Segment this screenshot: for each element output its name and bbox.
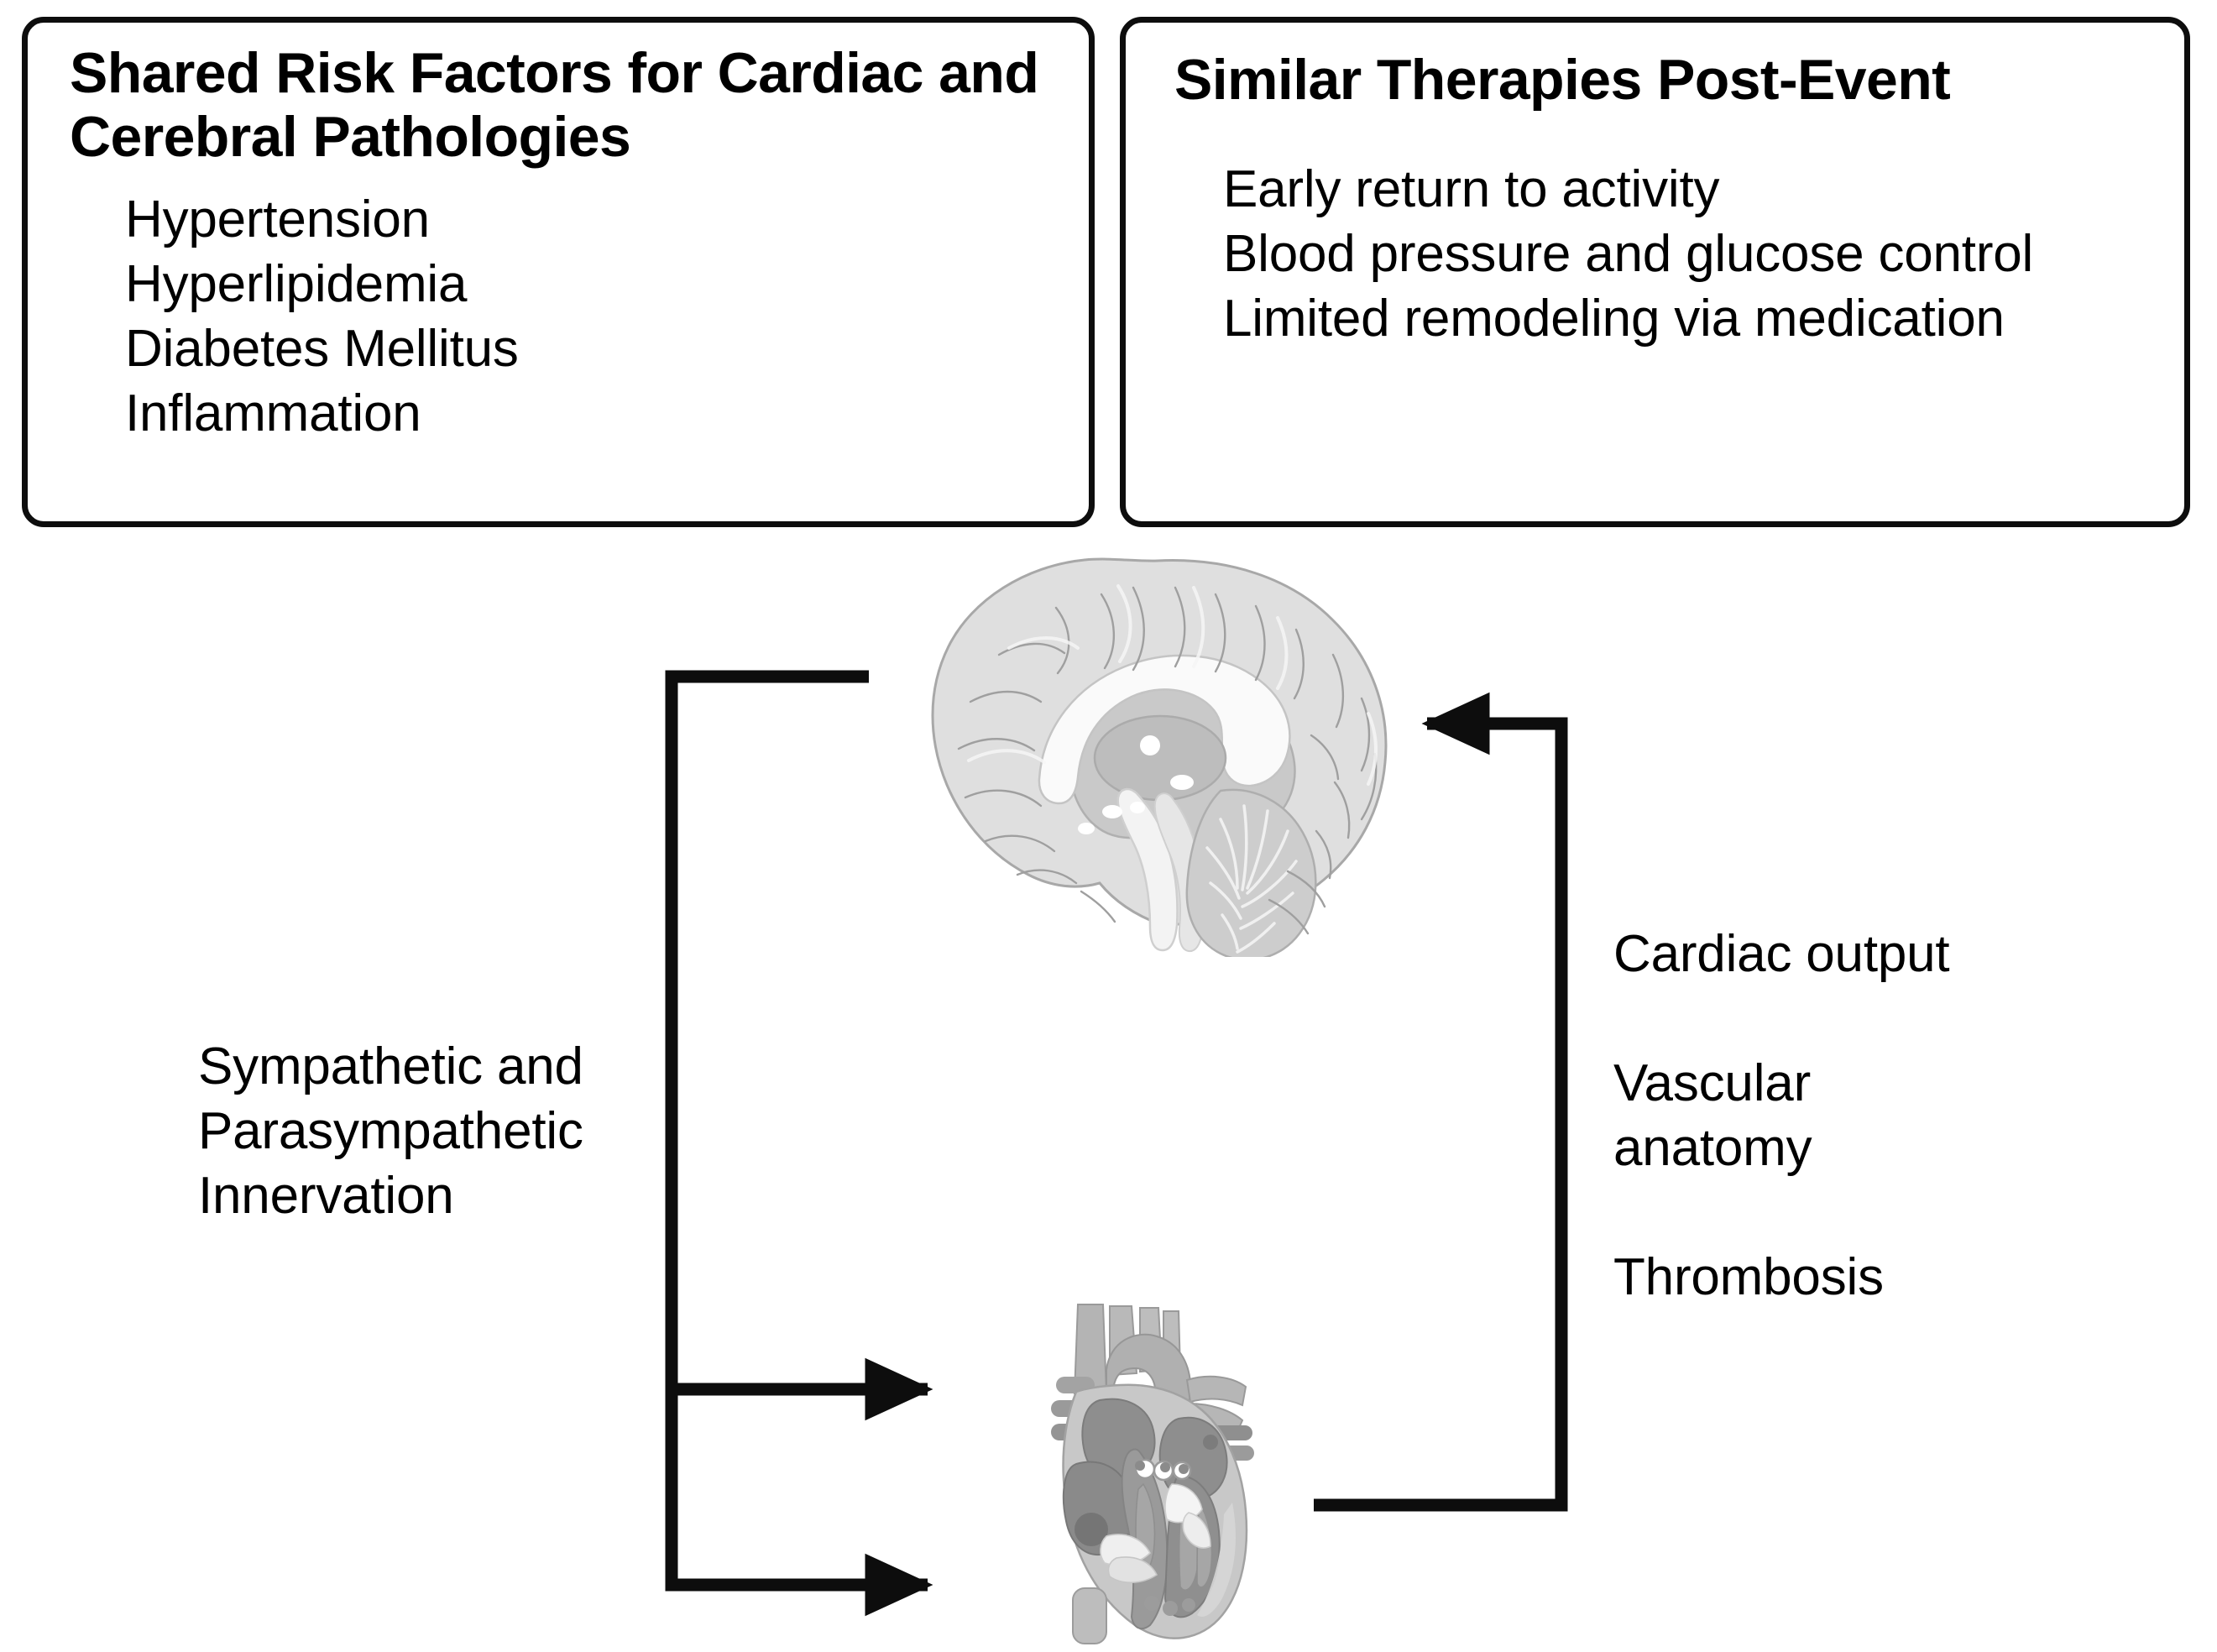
list-item: Hyperlipidemia <box>125 252 1040 316</box>
risk-factors-box: Shared Risk Factors for Cardiac and Cere… <box>22 17 1095 527</box>
therapies-list: Early return to activity Blood pressure … <box>1223 157 2071 351</box>
heart-illustration <box>1022 1293 1291 1645</box>
therapies-box: Similar Therapies Post-Event Early retur… <box>1120 17 2190 527</box>
connector-brain-to-heart-upper <box>672 677 928 1389</box>
connector-brain-to-heart-lower <box>672 1074 928 1585</box>
label-cardiac-output: Cardiac output <box>1613 922 2084 986</box>
label-thrombosis: Thrombosis <box>1613 1245 2084 1310</box>
list-item: Blood pressure and glucose control <box>1223 222 2071 286</box>
list-item: Hypertension <box>125 187 1040 252</box>
list-item: Diabetes Mellitus <box>125 316 1040 381</box>
therapies-title: Similar Therapies Post-Event <box>1174 48 2157 112</box>
list-item: Limited remodeling via medication <box>1223 286 2071 351</box>
list-item: Early return to activity <box>1223 157 2071 222</box>
label-vascular-anatomy: Vascular anatomy <box>1613 1051 2016 1180</box>
risk-factors-title: Shared Risk Factors for Cardiac and Cere… <box>70 41 1060 169</box>
list-item: Inflammation <box>125 381 1040 446</box>
label-innervation: Sympathetic and Parasympathetic Innervat… <box>198 1034 668 1228</box>
risk-factors-list: Hypertension Hyperlipidemia Diabetes Mel… <box>125 187 1040 446</box>
diagram-canvas: Shared Risk Factors for Cardiac and Cere… <box>0 0 2217 1652</box>
brain-illustration <box>908 554 1412 957</box>
